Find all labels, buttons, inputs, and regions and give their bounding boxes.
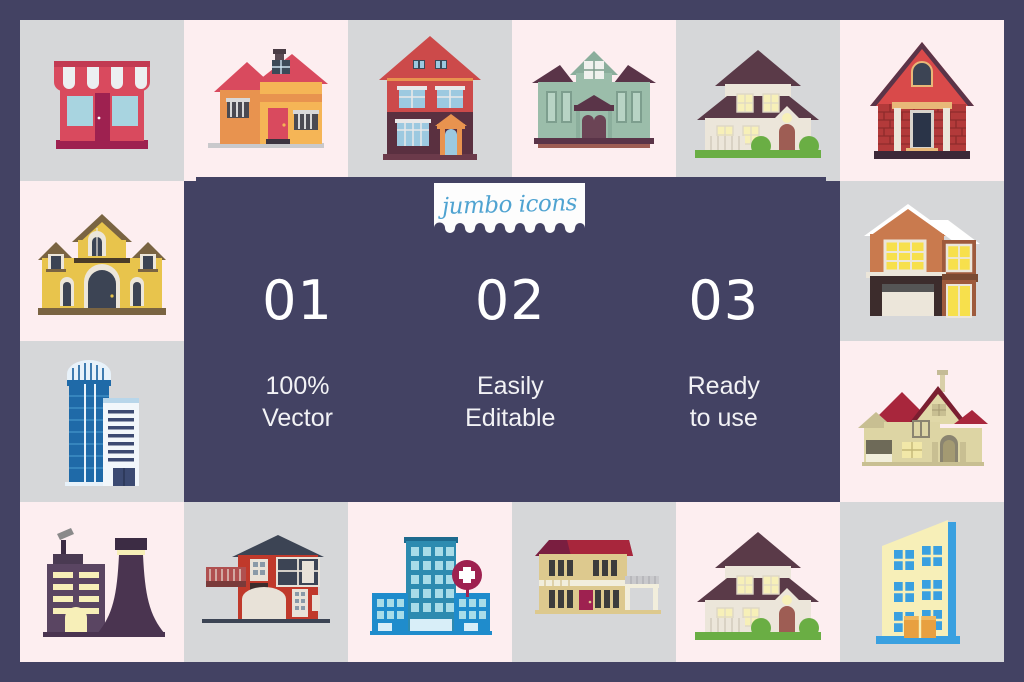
red-villa-balcony-icon <box>198 529 334 635</box>
tile-orange-bungalow-house[interactable] <box>184 20 348 181</box>
feature-number: 02 <box>475 274 546 328</box>
red-brick-cottage-icon <box>868 36 976 164</box>
tile-brown-garage-house[interactable] <box>840 181 1004 342</box>
tile-white-suburban-house[interactable] <box>676 502 840 663</box>
beige-cottage-house-icon <box>854 366 990 476</box>
feature-caption-line1: Ready <box>688 370 760 402</box>
tile-red-two-story-house[interactable] <box>348 20 512 181</box>
white-suburban-house-icon <box>691 520 825 644</box>
poster-canvas: 01 100% Vector 02 Easily Editable 03 Rea… <box>0 0 1024 682</box>
feature-caption-line2: Editable <box>465 402 555 434</box>
tile-storefront-shop[interactable] <box>20 20 184 181</box>
feature-caption: Ready to use <box>688 370 760 434</box>
yellow-apartment-block-icon <box>872 516 972 648</box>
orange-bungalow-house-icon <box>202 40 330 160</box>
storefront-shop-icon <box>42 40 162 160</box>
yellow-mansion-icon <box>34 198 170 324</box>
tile-factory-chimney[interactable] <box>20 502 184 663</box>
tile-red-brick-cottage[interactable] <box>840 20 1004 181</box>
tile-green-victorian-house[interactable] <box>512 20 676 181</box>
blue-skyscraper-tower-icon <box>57 354 147 488</box>
tile-beige-cottage-house[interactable] <box>840 341 1004 502</box>
brand-tag-text: jumbo icons <box>433 181 585 229</box>
cream-suburban-house-icon <box>691 38 825 162</box>
hospital-building-icon <box>366 523 494 641</box>
factory-chimney-icon <box>39 520 165 644</box>
tile-cream-suburban-house[interactable] <box>676 20 840 181</box>
feature-item-01: 01 100% Vector <box>262 274 333 434</box>
tile-yellow-mansion[interactable] <box>20 181 184 342</box>
red-two-story-house-icon <box>375 34 485 166</box>
tile-red-villa-balcony[interactable] <box>184 502 348 663</box>
feature-number: 03 <box>688 274 759 328</box>
brand-tag: jumbo icons <box>434 183 585 241</box>
feature-caption: 100% Vector <box>262 370 333 434</box>
feature-caption-line1: 100% <box>262 370 333 402</box>
green-victorian-house-icon <box>530 45 658 155</box>
feature-caption-line2: Vector <box>262 402 333 434</box>
tile-yellow-apartment-block[interactable] <box>840 502 1004 663</box>
tile-tan-two-story-house[interactable] <box>512 502 676 663</box>
tan-two-story-house-icon <box>527 534 661 630</box>
feature-caption-line2: to use <box>688 402 760 434</box>
feature-item-03: 03 Ready to use <box>688 274 760 434</box>
feature-item-02: 02 Easily Editable <box>465 274 555 434</box>
feature-caption-line1: Easily <box>465 370 555 402</box>
brown-garage-house-icon <box>862 200 982 322</box>
tile-hospital-building[interactable] <box>348 502 512 663</box>
feature-caption: Easily Editable <box>465 370 555 434</box>
feature-number: 01 <box>262 274 333 328</box>
tile-blue-skyscraper-tower[interactable] <box>20 341 184 502</box>
